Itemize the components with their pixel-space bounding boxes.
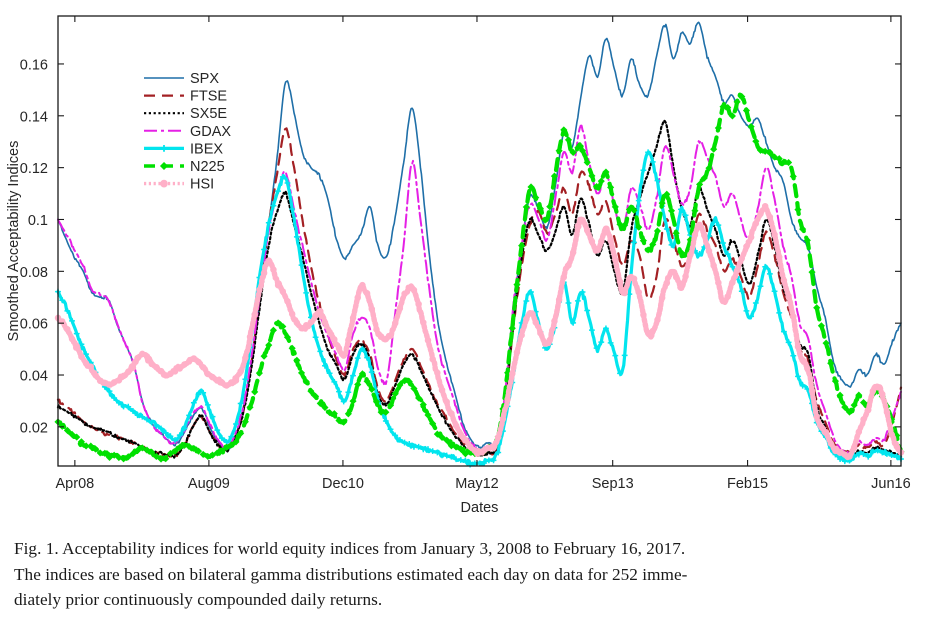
marker-circle [434,370,440,376]
marker-circle [444,399,450,405]
caption-line-1: Fig. 1. Acceptability indices for world … [14,536,912,562]
marker-circle [739,256,745,262]
marker-circle [687,252,693,258]
marker-circle [556,297,562,303]
marker-circle [720,298,726,304]
acceptability-indices-line-chart[interactable]: 0.020.040.060.080.10.120.140.16Apr08Aug0… [0,0,925,512]
marker-circle [828,440,834,446]
marker-circle [730,280,736,286]
marker-circle [449,411,455,417]
marker-circle [135,355,141,361]
marker-circle [856,429,862,435]
marker-circle [64,326,70,332]
marker-circle [617,279,623,285]
marker-circle [360,282,366,288]
marker-circle [781,278,787,284]
marker-circle [275,282,281,288]
x-tick-label-5: Feb15 [727,476,768,492]
marker-circle [500,416,506,422]
marker-circle [416,301,422,307]
marker-circle [242,355,248,361]
x-axis-title: Dates [461,500,499,512]
marker-circle [809,388,815,394]
marker-circle [336,345,342,351]
marker-circle [570,250,576,256]
x-tick-label-6: Jun16 [871,476,911,492]
marker-circle [884,409,890,415]
marker-circle [589,238,595,244]
marker-circle [612,257,618,263]
marker-circle [420,320,426,326]
marker-circle [776,254,782,260]
marker-circle [894,444,900,450]
marker-circle [650,328,656,334]
marker-circle [509,371,515,377]
y-tick-label-0: 0.02 [20,420,48,436]
marker-circle [772,232,778,238]
marker-circle [341,353,347,359]
marker-circle [271,267,277,273]
marker-circle [322,320,328,326]
marker-circle [313,313,319,319]
marker-circle [130,365,136,371]
marker-circle [575,223,581,229]
marker-circle [256,287,262,293]
marker-circle [200,364,206,370]
y-tick-label-4: 0.1 [28,213,48,229]
x-tick-label-2: Dec10 [322,476,364,492]
marker-circle [238,369,244,375]
marker-circle [659,295,665,301]
marker-circle [636,289,642,295]
marker-circle [233,378,239,384]
marker-circle [458,432,464,438]
marker-circle [158,368,164,374]
marker-circle [767,214,773,220]
legend-marker-circle [161,180,168,187]
legend-label-ftse: FTSE [190,89,227,105]
marker-circle [519,332,525,338]
marker-circle [566,262,572,268]
marker-circle [74,343,80,349]
marker-circle [317,308,323,314]
marker-circle [823,429,829,435]
marker-circle [697,222,703,228]
marker-circle [804,366,810,372]
legend-label-hsi: HSI [190,177,214,193]
legend-label-spx: SPX [190,71,219,87]
marker-circle [561,274,567,280]
marker-circle [93,372,99,378]
y-axis-title: Smoothed Acceptability Indices [6,141,22,342]
marker-circle [664,280,670,286]
marker-circle [289,311,295,317]
marker-circle [711,263,717,269]
marker-circle [748,234,754,240]
marker-circle [285,298,291,304]
marker-circle [673,274,679,280]
marker-circle [715,280,721,286]
legend-label-ibex: IBEX [190,141,223,157]
marker-circle [463,437,469,443]
marker-circle [861,416,867,422]
marker-circle [537,330,543,336]
marker-circle [491,445,497,451]
marker-circle [547,337,553,343]
marker-circle [144,354,150,360]
marker-circle [580,217,586,223]
caption-line-3: diately prior continuously compounded da… [14,587,912,613]
marker-circle [622,290,628,296]
marker-circle [350,315,356,321]
marker-circle [79,354,85,360]
marker-circle [795,344,801,350]
marker-circle [669,269,675,275]
marker-circle [655,317,661,323]
y-tick-label-1: 0.04 [20,369,48,385]
marker-circle [865,407,871,413]
marker-circle [533,319,539,325]
marker-circle [411,287,417,293]
marker-circle [734,268,740,274]
marker-circle [392,320,398,326]
marker-circle [495,434,501,440]
marker-circle [308,319,314,325]
marker-circle [505,396,511,402]
marker-circle [603,226,609,232]
marker-circle [369,306,375,312]
y-tick-label-3: 0.08 [20,265,48,281]
marker-circle [758,211,764,217]
marker-circle [355,295,361,301]
x-tick-label-3: May12 [455,476,499,492]
marker-circle [345,337,351,343]
legend-label-sx5e: SX5E [190,106,227,122]
legend-label-n225: N225 [190,159,225,175]
marker-circle [786,293,792,299]
marker-circle [598,239,604,245]
marker-circle [701,232,707,238]
marker-circle [261,270,267,276]
marker-circle [552,318,558,324]
marker-circle [706,248,712,254]
marker-circle [280,289,286,295]
marker-circle [523,316,529,322]
x-tick-label-1: Aug09 [188,476,230,492]
marker-circle [800,357,806,363]
marker-circle [725,294,731,300]
figure-caption: Fig. 1. Acceptability indices for world … [14,536,912,613]
marker-circle [584,228,590,234]
marker-circle [121,373,127,379]
marker-circle [814,414,820,420]
marker-circle [790,314,796,320]
marker-circle [397,306,403,312]
figure-page: 0.020.040.060.080.10.120.140.16Apr08Aug0… [0,0,925,626]
marker-circle [125,369,131,375]
x-tick-label-4: Sep13 [592,476,634,492]
marker-circle [439,387,445,393]
marker-circle [177,366,183,372]
marker-circle [294,320,300,326]
marker-circle [608,238,614,244]
y-tick-label-2: 0.06 [20,317,48,333]
marker-circle [753,221,759,227]
caption-line-2: The indices are based on bilateral gamma… [14,562,912,588]
marker-circle [327,329,333,335]
marker-circle [88,364,94,370]
marker-circle [430,356,436,362]
marker-circle [889,432,895,438]
marker-circle [528,311,534,317]
marker-circle [266,258,272,264]
marker-circle [847,454,853,460]
marker-circle [879,391,885,397]
marker-circle [875,384,881,390]
marker-circle [388,333,394,339]
marker-circle [514,349,520,355]
marker-circle [116,377,122,383]
marker-circle [851,445,857,451]
marker-circle [252,312,258,318]
marker-circle [744,244,750,250]
x-tick-label-0: Apr08 [56,476,95,492]
marker-circle [631,276,637,282]
legend-label-gdax: GDAX [190,124,231,140]
marker-circle [678,285,684,291]
marker-circle [374,326,380,332]
marker-circle [425,337,431,343]
y-tick-label-7: 0.16 [20,57,48,73]
marker-circle [247,334,253,340]
marker-circle [402,291,408,297]
marker-circle [683,274,689,280]
chart-figure: 0.020.040.060.080.10.120.140.16Apr08Aug0… [0,0,925,512]
y-tick-label-5: 0.12 [20,161,48,177]
marker-circle [196,359,202,365]
marker-circle [69,336,75,342]
marker-circle [453,423,459,429]
marker-circle [818,424,824,430]
y-tick-label-6: 0.14 [20,109,48,125]
marker-circle [331,337,337,343]
marker-circle [364,290,370,296]
marker-circle [594,246,600,252]
marker-circle [692,232,698,238]
marker-circle [762,203,768,209]
marker-circle [641,312,647,318]
